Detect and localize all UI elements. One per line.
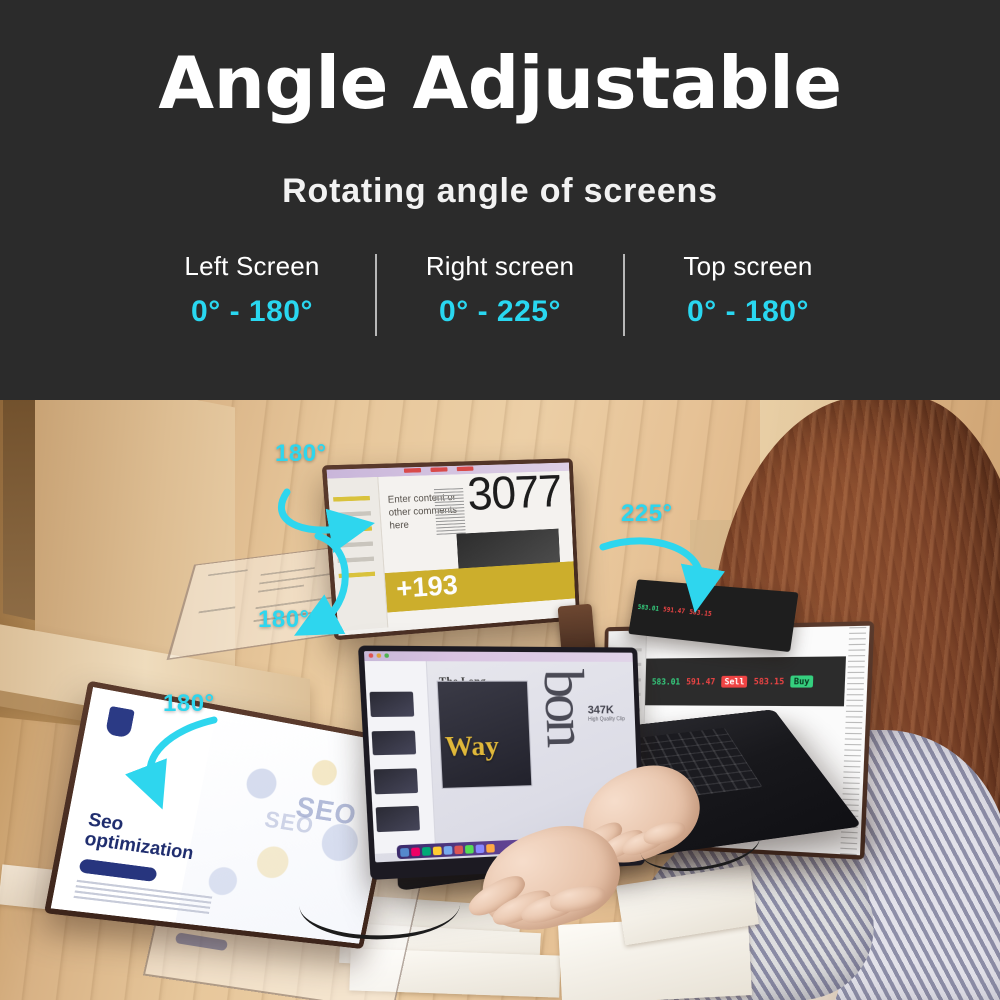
spec-right-screen: Right screen 0° - 225° (377, 250, 623, 329)
float-ticker-2: 591.47 (663, 606, 686, 616)
ghost-cta-button (174, 932, 228, 951)
page-title: Angle Adjustable (0, 46, 1000, 122)
spec-value: 0° - 225° (439, 295, 561, 329)
window-controls[interactable] (369, 653, 389, 657)
seo-cta-button[interactable] (78, 858, 157, 882)
top-monitor[interactable]: 3077 Enter content or other comments her… (322, 458, 580, 640)
laptop-vertical-word: bon (538, 668, 588, 743)
app-sidebar (327, 477, 389, 631)
annotation-right-225: 225° (621, 500, 673, 528)
sell-badge[interactable]: Sell (721, 676, 747, 688)
laptop-stat-value: 347K (587, 704, 614, 717)
spec-value: 0° - 180° (191, 295, 313, 329)
spec-top-screen: Top screen 0° - 180° (625, 250, 871, 329)
ticker-value-1: 583.01 (652, 677, 681, 686)
product-photo: Seo optimization SEO SEO Seo optimizatio… (0, 400, 1000, 1000)
brand-badge (105, 706, 135, 738)
top-monitor-screen: 3077 Enter content or other comments her… (327, 463, 576, 636)
stock-ticker-bar: 583.01 591.47 Sell 583.15 Buy (645, 656, 845, 707)
annotation-left-180: 180° (163, 690, 215, 718)
texture-block (434, 488, 466, 534)
spec-left-screen: Left Screen 0° - 180° (129, 250, 375, 329)
laptop-stat: 347K High Quality Clip (587, 704, 625, 724)
float-ticker-3: 583.15 (689, 608, 713, 618)
ticker-value-3: 583.15 (754, 677, 785, 687)
float-ticker-1: 583.01 (637, 603, 659, 613)
annotation-top-180: 180° (275, 440, 327, 468)
annotation-flip-180: 180° (258, 606, 310, 634)
top-screen-big-number: 3077 (466, 471, 562, 516)
spec-row: Left Screen 0° - 180° Right screen 0° - … (60, 250, 940, 350)
header-banner: Angle Adjustable Rotating angle of scree… (0, 0, 1000, 400)
laptop-card-word: Way (444, 730, 499, 763)
ticker-value-2: 591.47 (686, 677, 715, 687)
top-screen-highlight-value: +193 (395, 570, 458, 602)
spec-label: Top screen (683, 250, 812, 283)
seo-title-line2: optimization (83, 829, 195, 864)
buy-badge[interactable]: Buy (790, 676, 813, 688)
seo-title: Seo optimization (83, 810, 199, 865)
media-sidebar (364, 661, 436, 853)
spec-value: 0° - 180° (687, 295, 809, 329)
laptop-stat-caption: High Quality Clip (588, 717, 625, 725)
spec-label: Left Screen (184, 250, 319, 283)
highlight-bar: +193 (385, 562, 575, 613)
page-subtitle: Rotating angle of screens (0, 172, 1000, 211)
spec-label: Right screen (426, 250, 574, 283)
